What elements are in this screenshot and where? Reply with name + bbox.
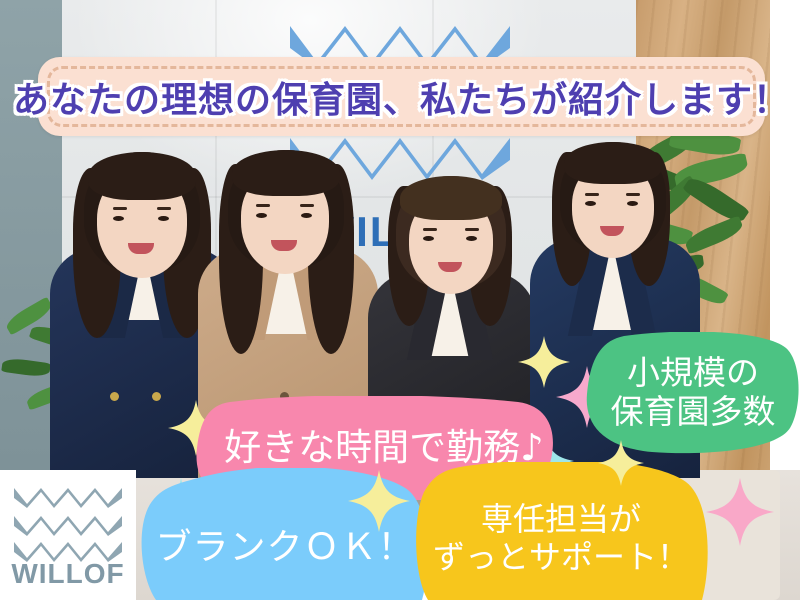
badge-small-scale-nurseries: 小規模の 保育園多数 xyxy=(586,332,800,454)
sparkle-yellow-3-icon xyxy=(348,470,410,532)
headline-text: あなたの理想の保育園、私たちが紹介します！ xyxy=(38,57,765,136)
willof-logo-box: WILLOF xyxy=(0,470,136,600)
badge-dedicated-support-label: 専任担当が ずっとサポート！ xyxy=(414,462,708,600)
sparkle-pink-3-icon xyxy=(706,478,774,546)
zigzag-wave-icon xyxy=(14,486,122,508)
badge-small-scale-nurseries-label: 小規模の 保育園多数 xyxy=(586,332,800,454)
zigzag-wave-icon xyxy=(14,514,122,536)
badge-dedicated-support: 専任担当が ずっとサポート！ xyxy=(414,462,708,600)
headline-banner: あなたの理想の保育園、私たちが紹介します！ xyxy=(38,57,765,136)
sparkle-yellow-4-icon xyxy=(598,440,644,486)
willof-wordmark: WILLOF xyxy=(0,558,136,590)
advertisement-banner: WILLOF xyxy=(0,0,800,600)
